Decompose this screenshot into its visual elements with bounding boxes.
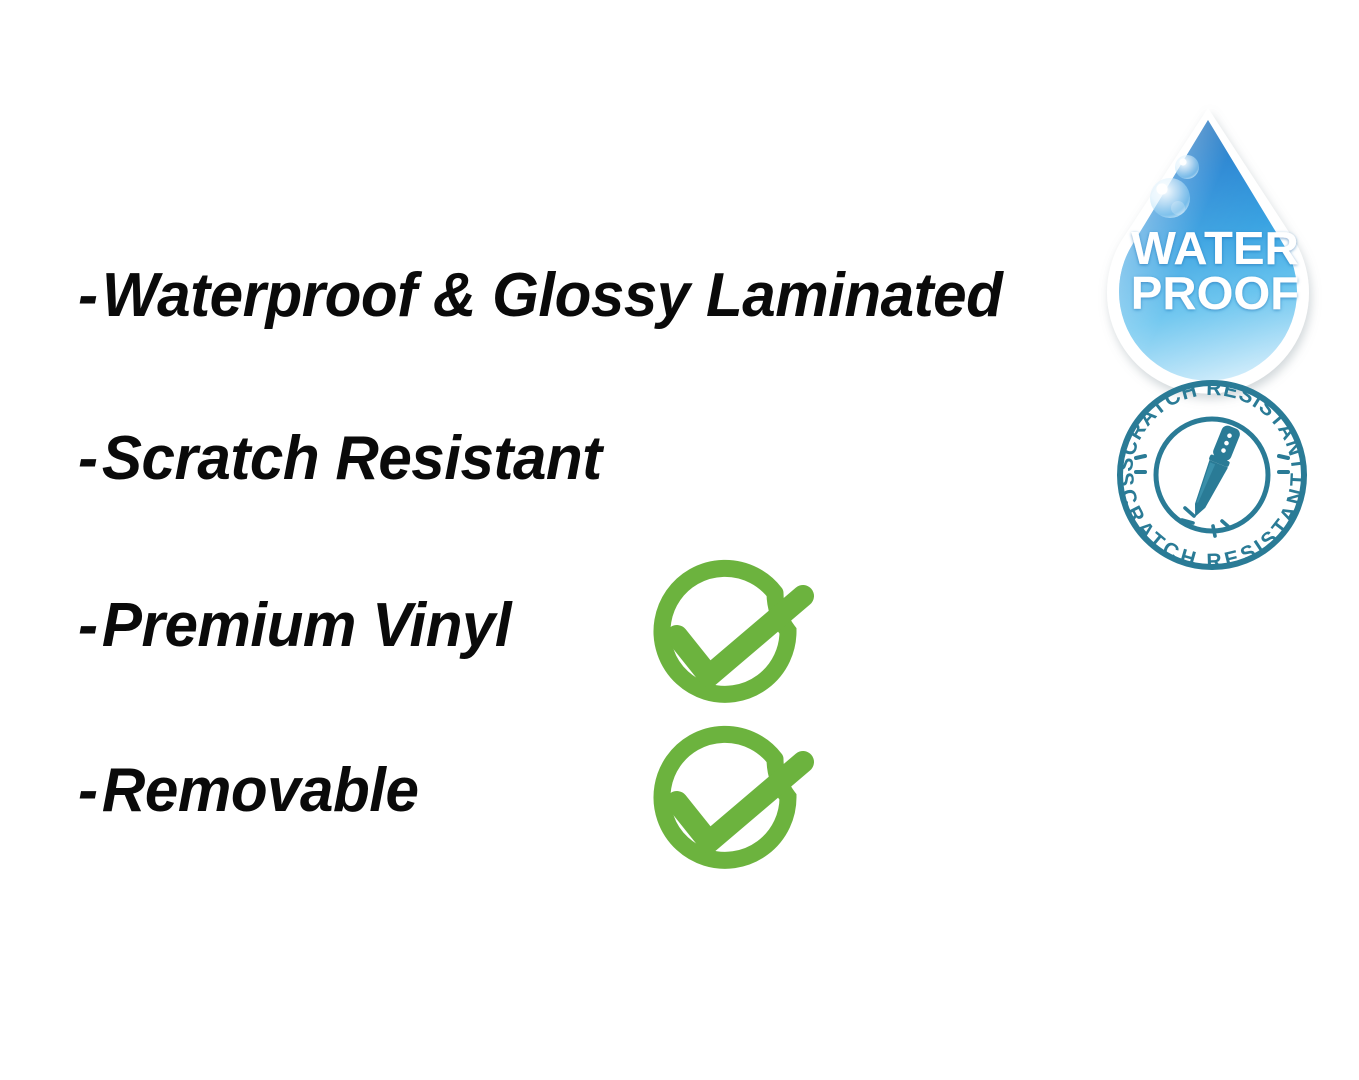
feature-item-removable: -Removable <box>78 760 418 822</box>
check-circle-icon <box>625 552 840 727</box>
water-drop-icon: WATER PROOF <box>1104 104 1326 366</box>
waterproof-text: WATER PROOF <box>1131 223 1299 319</box>
feature-item-waterproof-glossy-laminated: -Waterproof & Glossy Laminated <box>78 265 1002 327</box>
check-circle-icon <box>625 718 840 893</box>
scratch-resistant-badge: SCRATCH RESISTANT SCRATCH RESISTANT <box>1112 380 1312 562</box>
promo-feature-graphic: -Waterproof & Glossy Laminated -Scratch … <box>0 0 1359 1080</box>
water-bubble-large <box>1150 178 1190 218</box>
feature-dash: - <box>78 261 102 330</box>
water-bubble-small <box>1175 155 1199 179</box>
feature-item-premium-vinyl: -Premium Vinyl <box>78 595 511 657</box>
waterproof-badge: WATER PROOF <box>1104 104 1326 366</box>
check-circle-badge-removable <box>625 718 840 893</box>
knife-icon <box>1187 423 1243 521</box>
check-circle-badge-premium-vinyl <box>625 552 840 727</box>
feature-label: Premium Vinyl <box>102 591 511 660</box>
waterproof-line-1: WATER <box>1131 223 1299 274</box>
feature-dash: - <box>78 424 102 493</box>
feature-dash: - <box>78 756 102 825</box>
feature-label: Waterproof & Glossy Laminated <box>102 261 1002 330</box>
feature-label: Scratch Resistant <box>102 424 602 493</box>
waterproof-line-2: PROOF <box>1131 268 1299 319</box>
feature-dash: - <box>78 591 102 660</box>
feature-label: Removable <box>102 756 419 825</box>
feature-item-scratch-resistant: -Scratch Resistant <box>78 428 602 490</box>
knife-stamp-icon: SCRATCH RESISTANT SCRATCH RESISTANT <box>1112 380 1312 562</box>
